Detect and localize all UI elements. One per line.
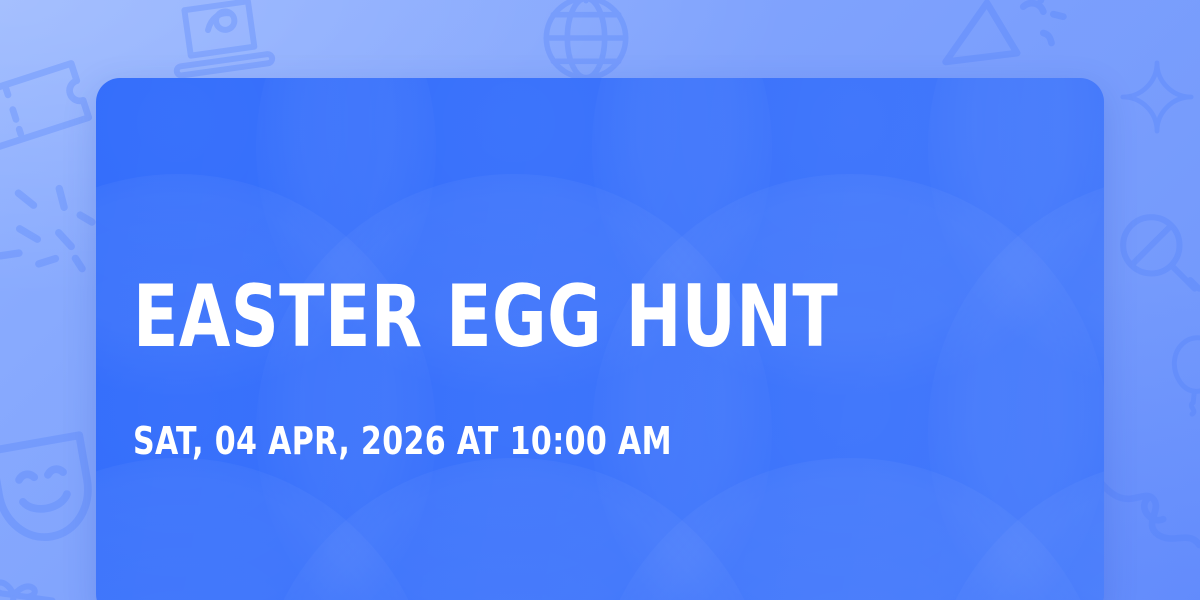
microphone-icon xyxy=(1108,202,1200,306)
event-card-content: Easter Egg Hunt Sat, 04 Apr, 2026 at 10:… xyxy=(133,78,1064,600)
balloon-icon xyxy=(1145,325,1200,426)
confetti-icon xyxy=(0,168,108,291)
event-datetime: Sat, 04 Apr, 2026 at 10:00 AM xyxy=(133,421,672,461)
ticket-icon xyxy=(0,26,108,182)
gift-icon xyxy=(0,549,71,600)
streamer-icon xyxy=(1096,452,1200,576)
event-title: Easter Egg Hunt xyxy=(133,274,838,360)
event-card[interactable]: Easter Egg Hunt Sat, 04 Apr, 2026 at 10:… xyxy=(96,78,1104,600)
sparkle-icon xyxy=(1116,56,1198,138)
event-banner-canvas: Easter Egg Hunt Sat, 04 Apr, 2026 at 10:… xyxy=(0,0,1200,600)
